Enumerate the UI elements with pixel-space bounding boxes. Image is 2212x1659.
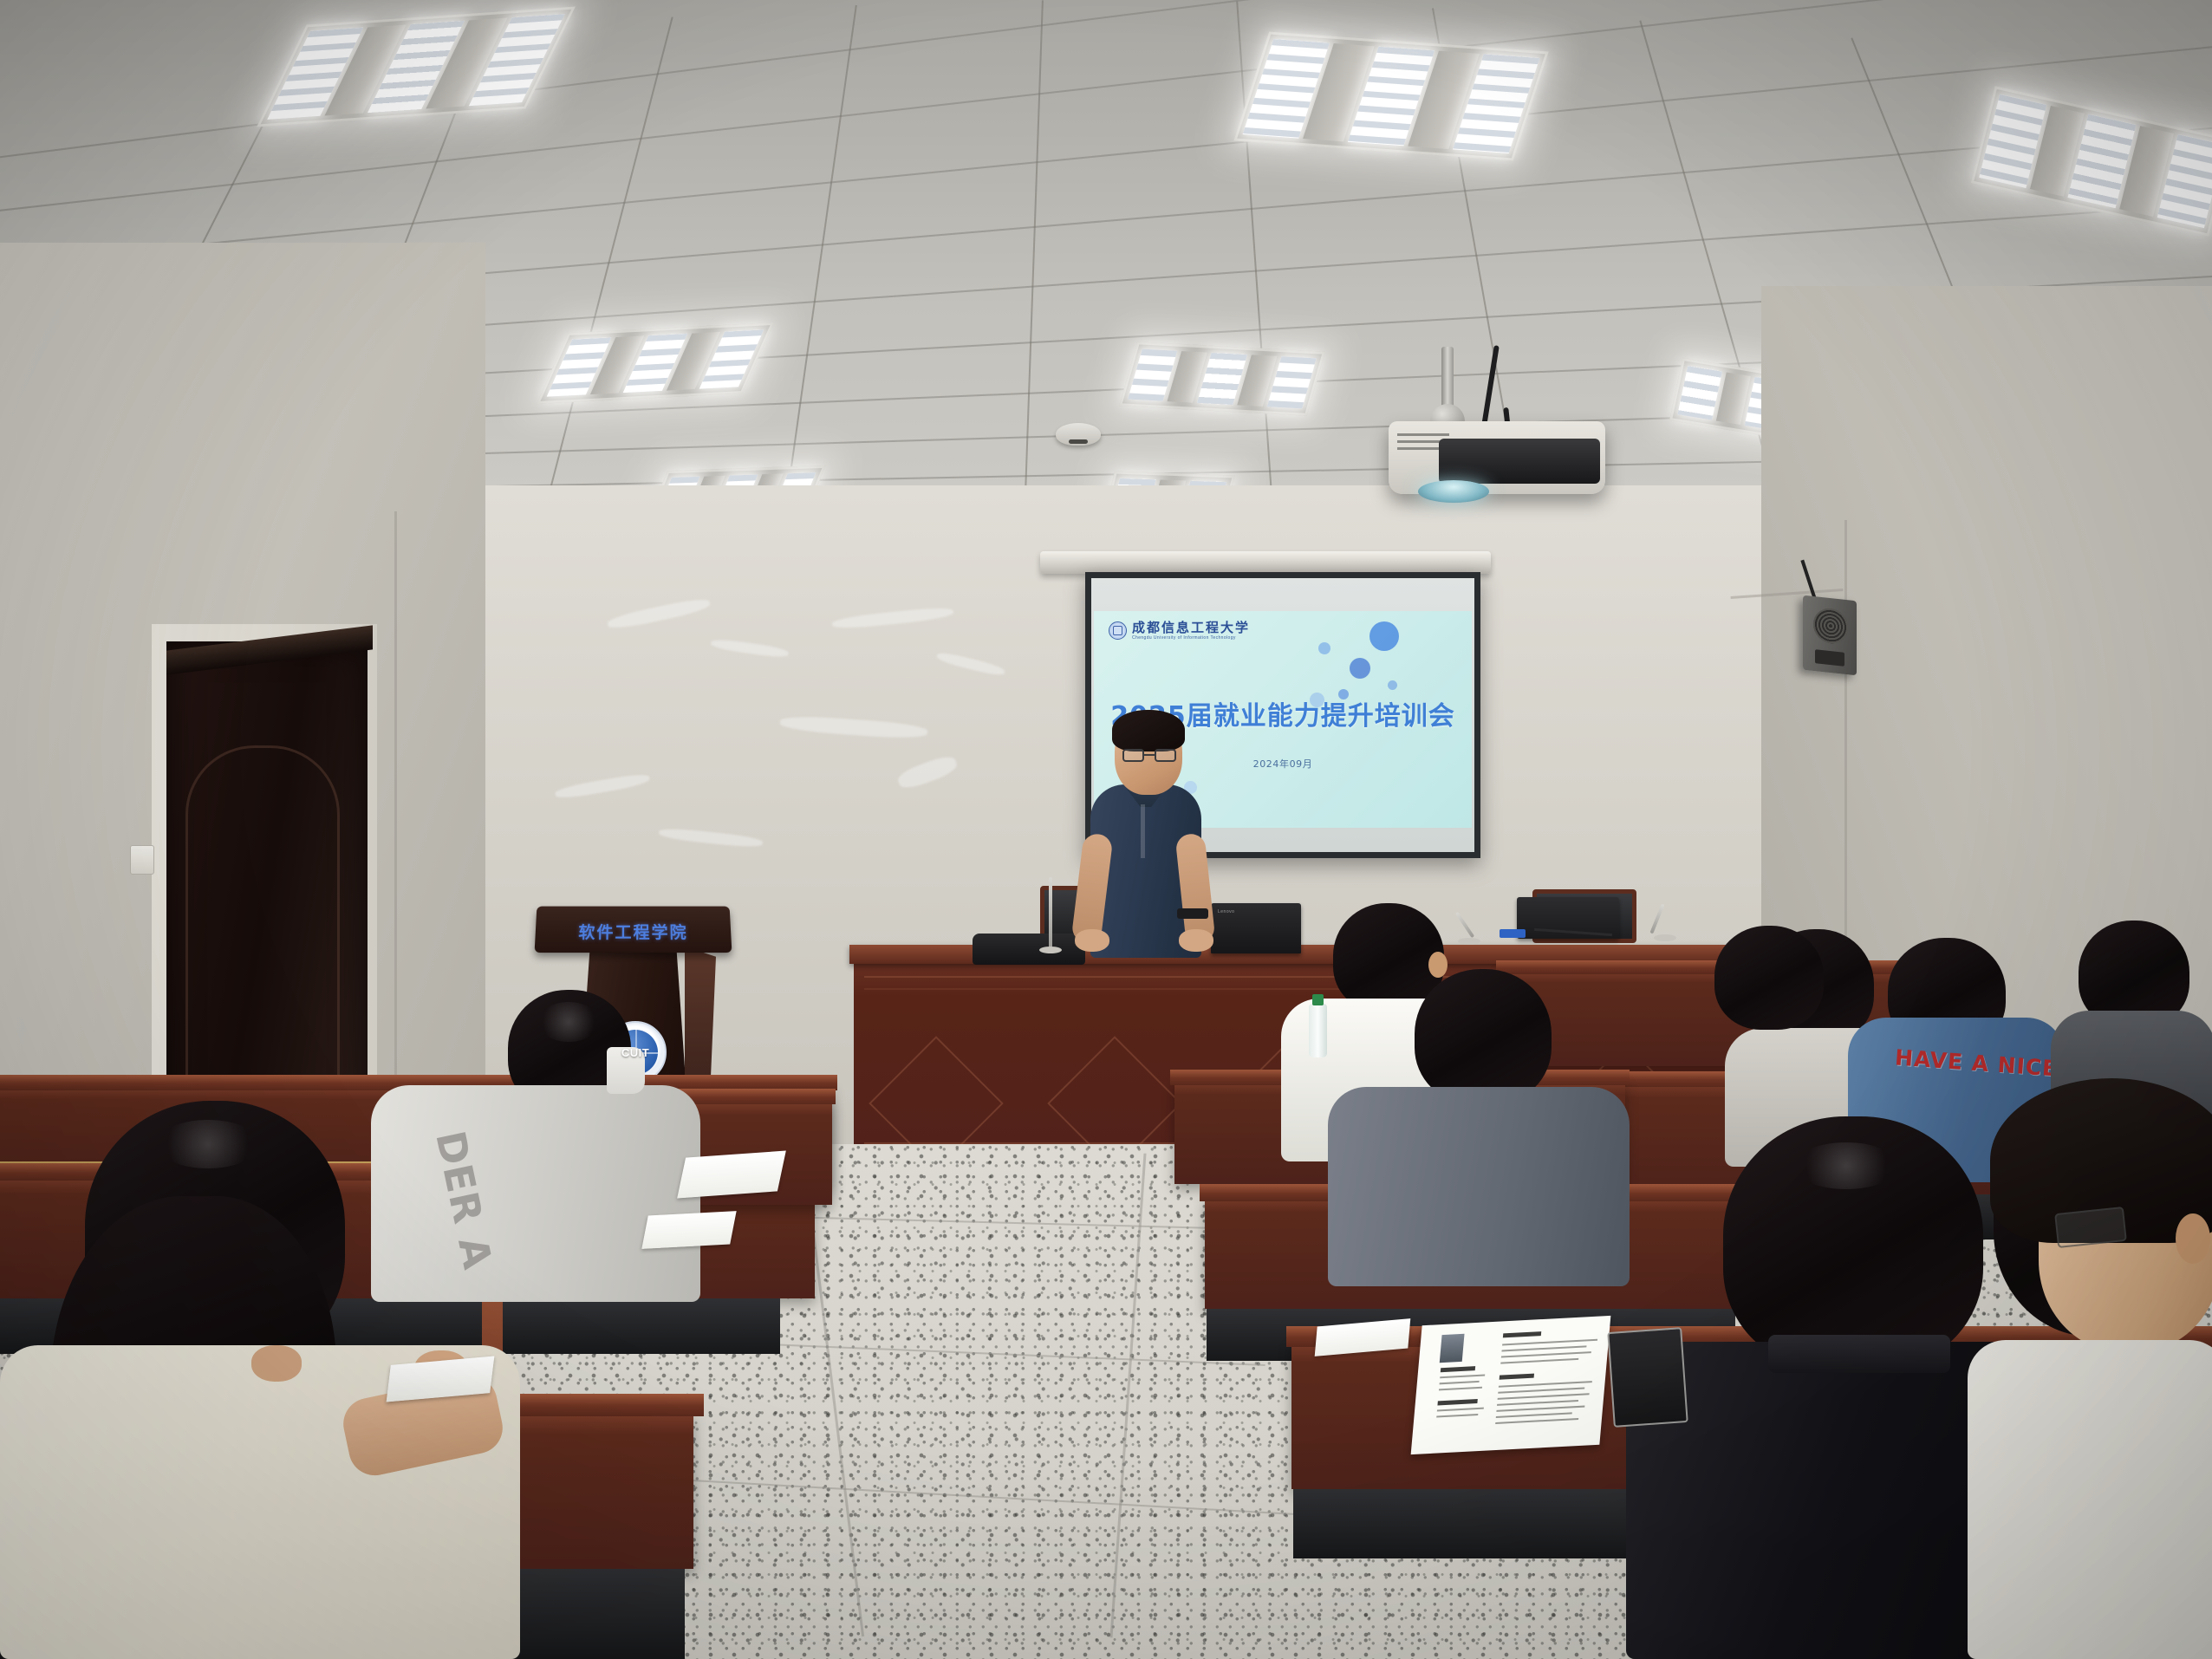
resume-document — [1411, 1316, 1611, 1454]
ceiling-light-fixture — [257, 7, 576, 127]
ceiling-light-fixture — [1233, 31, 1548, 160]
ceiling-light-fixture — [537, 322, 774, 404]
student-head — [1415, 969, 1552, 1104]
light-switch[interactable] — [130, 845, 154, 875]
tablet-device[interactable] — [1607, 1327, 1688, 1428]
microphone-base — [1458, 938, 1480, 945]
podium-top: 软件工程学院 — [535, 907, 732, 953]
student-hand — [251, 1345, 302, 1382]
classroom-photo: 成都信息工程大学 Chengdu University of Informati… — [0, 0, 2212, 1659]
hair-highlight — [156, 1120, 260, 1168]
resume-photo — [1440, 1334, 1465, 1363]
university-name-en: Chengdu University of Information Techno… — [1132, 635, 1250, 641]
presenter-hand-left — [1075, 929, 1109, 952]
projector-lens — [1418, 480, 1489, 503]
presenter-watch — [1177, 908, 1208, 919]
presenter-hand-right — [1179, 929, 1213, 952]
presenter-placket — [1141, 804, 1145, 858]
cuit-seal-text: CUIT — [621, 1046, 649, 1059]
laptop-lenovo[interactable]: Lenovo — [1211, 903, 1301, 953]
slide-bubble — [1350, 658, 1370, 679]
projector-mount — [1441, 347, 1454, 413]
wall-seam — [394, 511, 397, 1153]
ceiling-projector — [1389, 421, 1605, 494]
screen-roller-housing — [1040, 551, 1491, 574]
desk-connector — [1500, 929, 1526, 938]
university-seal-icon — [1109, 621, 1127, 640]
university-logo: 成都信息工程大学 Chengdu University of Informati… — [1109, 621, 1250, 641]
slide-bubble — [1388, 680, 1397, 690]
student-head — [1714, 926, 1824, 1030]
hair-highlight — [537, 1002, 600, 1042]
slide-bubble — [1369, 621, 1399, 651]
student-ear — [1428, 952, 1448, 978]
microphone-stem — [1049, 877, 1052, 948]
wall-speaker-icon — [1803, 595, 1857, 676]
student-torso — [371, 1085, 700, 1302]
water-bottle — [1309, 1004, 1327, 1057]
podium-department-label: 软件工程学院 — [535, 920, 732, 943]
microphone-base — [1039, 947, 1062, 953]
shirt-collar — [1768, 1335, 1950, 1373]
student-torso — [1328, 1087, 1630, 1286]
ceiling-light-fixture — [1119, 342, 1325, 416]
student-ear — [2176, 1213, 2210, 1264]
presenter-glasses-icon — [1122, 749, 1176, 762]
student-torso — [1968, 1340, 2212, 1659]
university-name-cn: 成都信息工程大学 — [1132, 621, 1250, 635]
slide-bubble — [1318, 642, 1330, 654]
hair-highlight — [1794, 1142, 1898, 1189]
student-glasses-icon — [2054, 1207, 2127, 1248]
smoke-detector-icon — [1056, 423, 1101, 446]
presenter-hair — [1112, 710, 1185, 751]
handout-paper — [677, 1151, 786, 1199]
projector-front-panel — [1439, 439, 1600, 484]
projector-vents — [1397, 433, 1449, 436]
bag — [973, 934, 1085, 965]
handout-paper — [641, 1211, 736, 1249]
laptop-brand-label: Lenovo — [1218, 909, 1234, 914]
ceiling-light-fixture — [1971, 86, 2212, 237]
microphone-base — [1654, 934, 1676, 941]
